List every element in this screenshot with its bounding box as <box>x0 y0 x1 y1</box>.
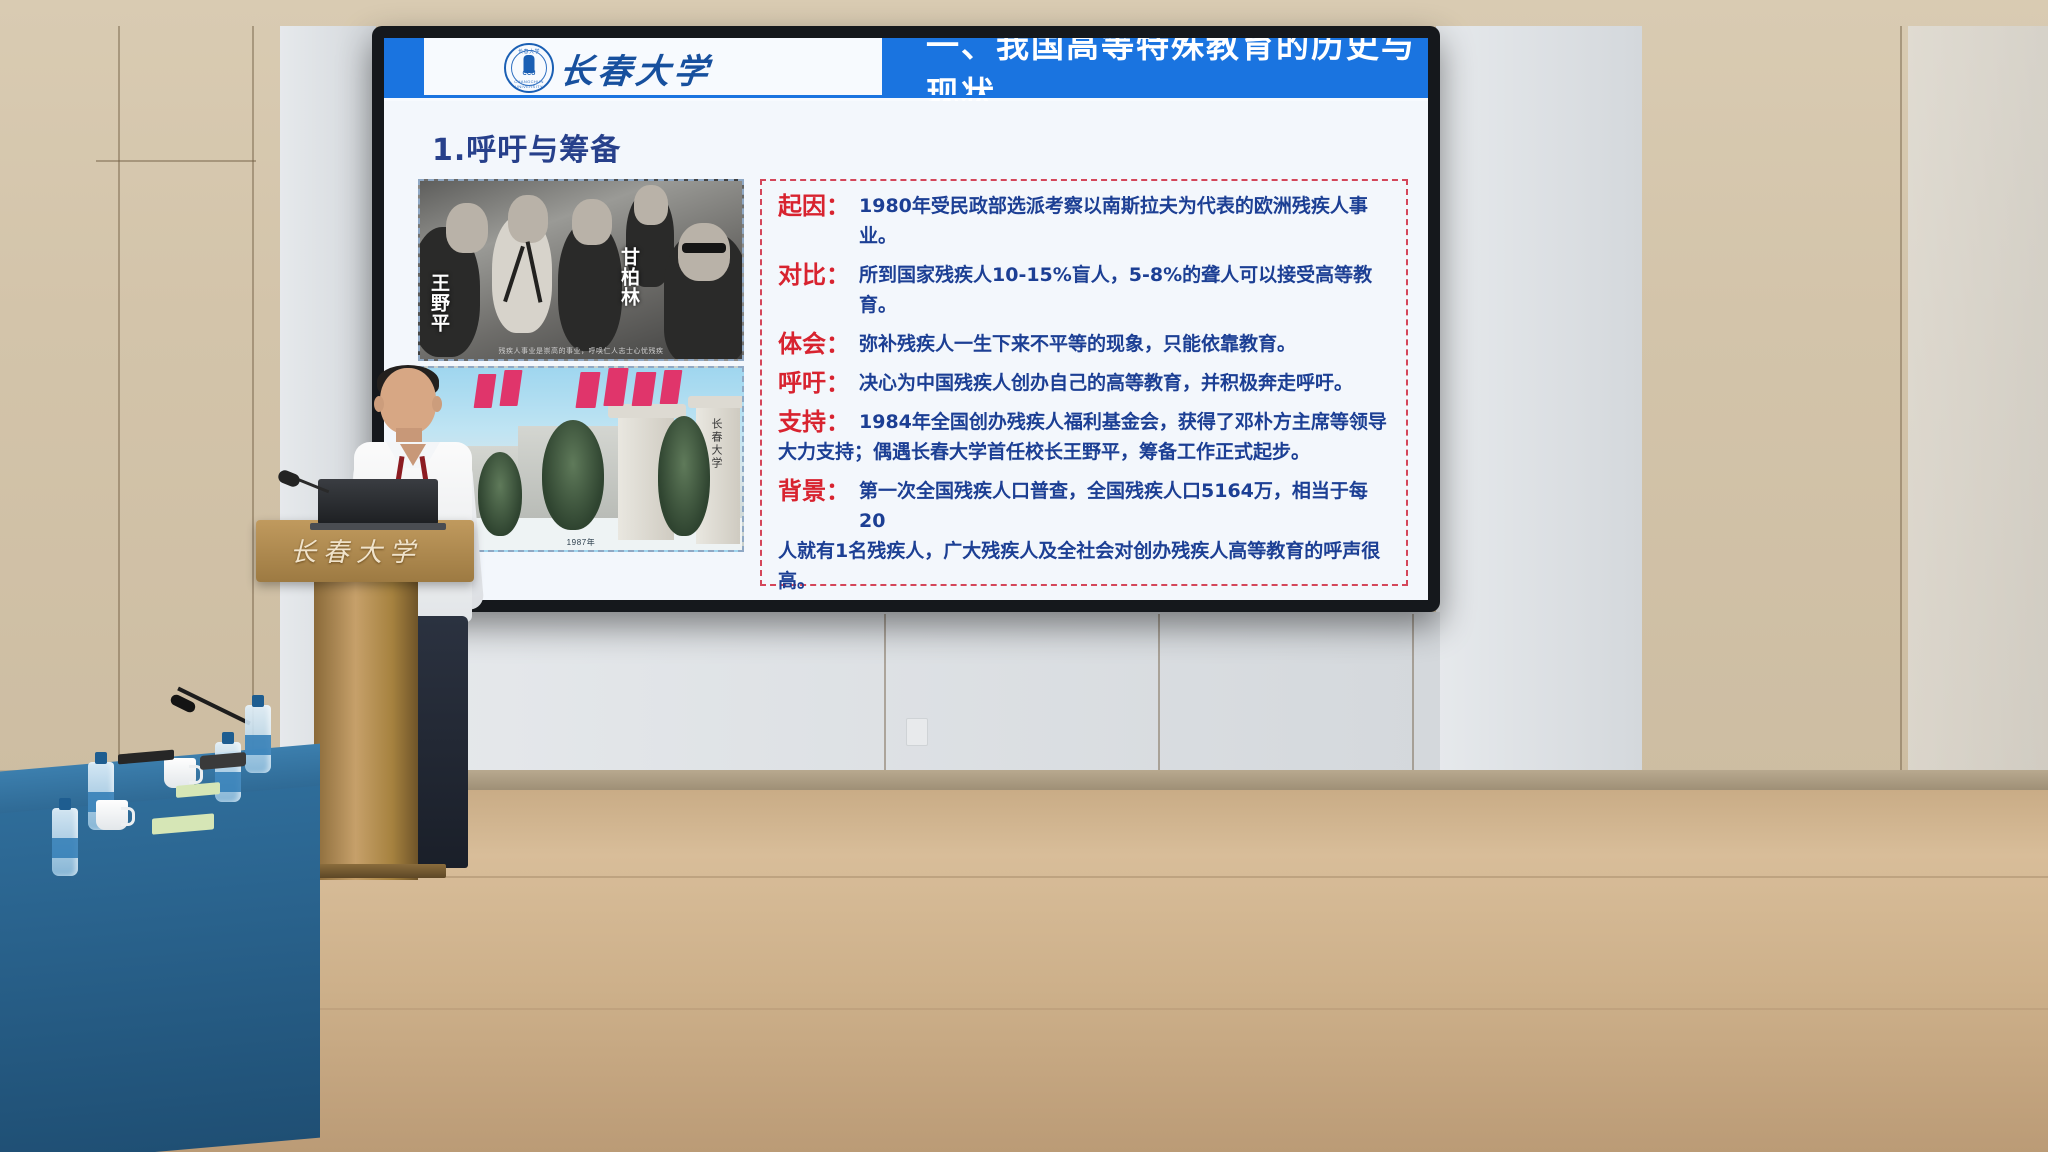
row-text: 决心为中国残疾人创办自己的高等教育，并积极奔走呼吁。 <box>859 368 1353 398</box>
university-seal-icon: 长春大学 CCU CHANGCHUN UNIVERSITY <box>504 43 554 93</box>
presentation-slide: 长春大学 CCU CHANGCHUN UNIVERSITY 长春大学 一、我国高… <box>384 38 1428 600</box>
wall-seam <box>1412 614 1414 790</box>
row-label: 背景： <box>778 476 850 506</box>
university-name: 长春大学 <box>557 44 714 93</box>
photo-meeting: 王野平 甘柏林 残疾人事业是崇高的事业，呼唤仁人志士心忧残疾 <box>418 179 744 361</box>
podium-microphone[interactable] <box>278 468 326 514</box>
wall-white-right <box>1436 26 1642 790</box>
row-text: 1984年全国创办残疾人福利基金会，获得了邓朴方主席等领导 <box>859 407 1387 437</box>
bottle-label <box>245 735 271 755</box>
microphone-stem <box>297 478 330 494</box>
text-row-cause: 起因： 1980年受民政部选派考察以南斯拉夫为代表的欧洲残疾人事业。 <box>778 191 1392 251</box>
row-label: 呼吁： <box>778 368 850 398</box>
seal-abbr: CCU <box>506 71 552 77</box>
wall-seam <box>96 160 256 162</box>
water-bottle[interactable] <box>52 808 78 876</box>
row-text: 第一次全国残疾人口普查，全国残疾人口5164万，相当于每20 <box>859 476 1392 536</box>
header-accent-block <box>384 38 424 95</box>
text-row-background-continued-2: 高。 <box>778 566 1392 596</box>
wall-seam <box>1158 614 1160 790</box>
header-underline <box>384 95 1428 98</box>
text-row-insight: 体会： 弥补残疾人一生下来不平等的现象，只能依靠教育。 <box>778 329 1392 359</box>
photo-year: 1987年 <box>567 537 596 548</box>
university-logo: 长春大学 CCU CHANGCHUN UNIVERSITY 长春大学 <box>504 41 712 95</box>
laptop[interactable] <box>318 479 438 525</box>
wall-below-screen <box>372 612 1440 790</box>
coffee-cup[interactable] <box>96 800 128 830</box>
text-row-appeal: 呼吁： 决心为中国残疾人创办自己的高等教育，并积极奔走呼吁。 <box>778 368 1392 398</box>
wall-socket <box>906 718 928 746</box>
gate-calligraphy: 长春大学 <box>708 418 724 470</box>
text-row-background: 背景： 第一次全国残疾人口普查，全国残疾人口5164万，相当于每20 <box>778 476 1392 536</box>
photo-label-wang: 王野平 <box>428 273 448 333</box>
slide-body: 1.呼吁与筹备 <box>384 101 1428 600</box>
text-row-support-continued: 大力支持；偶遇长春大学首任校长王野平，筹备工作正式起步。 <box>778 437 1392 467</box>
slide-header: 长春大学 CCU CHANGCHUN UNIVERSITY 长春大学 一、我国高… <box>384 38 1428 101</box>
podium-calligraphy: 长春大学 <box>290 532 422 569</box>
slide-subtitle: 1.呼吁与筹备 <box>432 125 621 169</box>
photo-label-gan: 甘柏林 <box>618 247 638 307</box>
bottle-label <box>52 838 78 858</box>
photo-caption: 残疾人事业是崇高的事业，呼唤仁人志士心忧残疾 <box>499 346 664 356</box>
wall-seam <box>884 614 886 790</box>
cup-handle <box>121 807 135 826</box>
seal-top-text: 长春大学 <box>506 48 552 55</box>
wall-seam <box>1900 26 1902 790</box>
row-text: 所到国家残疾人10-15%盲人，5-8%的聋人可以接受高等教育。 <box>859 260 1392 320</box>
presenter-head <box>380 368 436 434</box>
wall-seam <box>118 26 120 790</box>
wall-white-far-right <box>1908 26 2048 790</box>
text-row-comparison: 对比： 所到国家残疾人10-15%盲人，5-8%的聋人可以接受高等教育。 <box>778 260 1392 320</box>
text-row-background-continued: 人就有1名残疾人，广大残疾人及全社会对创办残疾人高等教育的呼声很 <box>778 536 1392 566</box>
water-bottle[interactable] <box>245 705 271 773</box>
presenter-ear <box>374 396 384 412</box>
text-row-support: 支持： 1984年全国创办残疾人福利基金会，获得了邓朴方主席等领导 <box>778 407 1392 437</box>
led-screen[interactable]: 长春大学 CCU CHANGCHUN UNIVERSITY 长春大学 一、我国高… <box>372 26 1440 612</box>
podium-column <box>314 580 418 880</box>
lecture-hall-scene: 长春大学 CCU CHANGCHUN UNIVERSITY 长春大学 一、我国高… <box>0 0 2048 1152</box>
row-label: 起因： <box>778 191 850 221</box>
presenter-ear <box>432 396 442 412</box>
coffee-cup[interactable] <box>164 758 196 788</box>
row-label: 对比： <box>778 260 850 290</box>
slide-textbox: 起因： 1980年受民政部选派考察以南斯拉夫为代表的欧洲残疾人事业。 对比： 所… <box>760 179 1408 586</box>
row-text: 1980年受民政部选派考察以南斯拉夫为代表的欧洲残疾人事业。 <box>859 191 1392 251</box>
slide-title-bar: 一、我国高等特殊教育的历史与现状 <box>882 38 1428 95</box>
row-label: 体会： <box>778 329 850 359</box>
wall-seam <box>252 26 254 790</box>
row-label: 支持： <box>778 407 850 437</box>
row-text: 弥补残疾人一生下来不平等的现象，只能依靠教育。 <box>859 329 1296 359</box>
seal-bottom-text: CHANGCHUN UNIVERSITY <box>506 79 552 89</box>
microphone-head-icon <box>276 468 301 488</box>
